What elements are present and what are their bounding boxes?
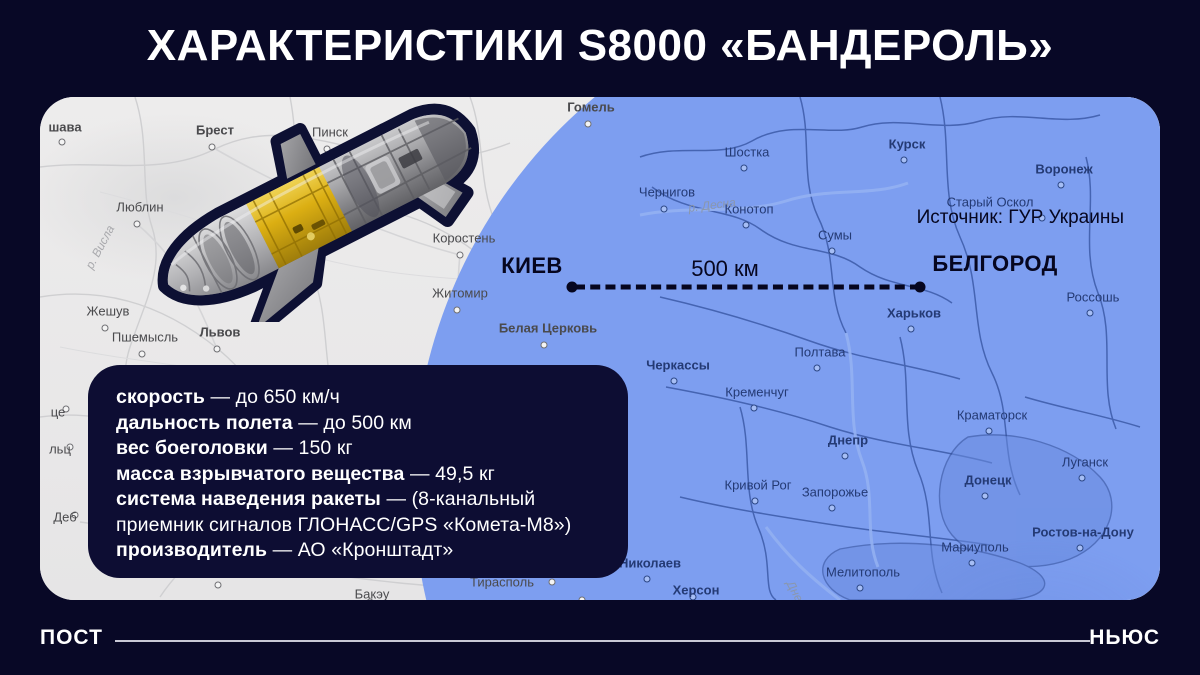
city-dot (549, 579, 556, 586)
spec-value: (8-канальный (412, 488, 536, 510)
footer-bar: ПОСТ НЬЮС (0, 600, 1200, 675)
city-dot (752, 498, 759, 505)
kiev-marker-dot (567, 282, 578, 293)
distance-dashed-line (575, 285, 920, 290)
city-dot (72, 512, 79, 519)
spec-line: дальность полета — до 500 км (116, 411, 628, 437)
city-dot (743, 222, 750, 229)
spec-value: до 650 км/ч (236, 386, 340, 408)
source-note: Источник: ГУР Украины (917, 207, 1124, 229)
city-dot (842, 453, 849, 460)
distance-label: 500 км (691, 256, 759, 282)
spec-line: масса взрывчатого вещества — 49,5 кг (116, 462, 628, 488)
spec-label: дальность полета (116, 412, 293, 434)
belgorod-marker-dot (915, 282, 926, 293)
spec-line: приемник сигналов ГЛОНАСС/GPS «Комета-М8… (116, 513, 628, 539)
footer-divider (115, 640, 1090, 642)
spec-label: производитель (116, 539, 267, 561)
city-dot (585, 121, 592, 128)
spec-line: производитель — АО «Кронштадт» (116, 538, 628, 564)
city-dot (541, 342, 548, 349)
city-dot (969, 560, 976, 567)
city-dot (102, 325, 109, 332)
city-dot (671, 378, 678, 385)
spec-label: масса взрывчатого вещества (116, 463, 404, 485)
city-dot (908, 326, 915, 333)
city-dot (857, 585, 864, 592)
page-title: ХАРАКТЕРИСТИКИ S8000 «БАНДЕРОЛЬ» (0, 22, 1200, 70)
spec-value: до 500 км (323, 412, 411, 434)
city-dot (814, 365, 821, 372)
belgorod-label: БЕЛГОРОД (932, 251, 1057, 277)
city-dot (986, 428, 993, 435)
city-dot (661, 206, 668, 213)
city-dot (1079, 475, 1086, 482)
spec-value: приемник сигналов ГЛОНАСС/GPS «Комета-М8… (116, 514, 571, 536)
spec-label: система наведения ракеты (116, 488, 381, 510)
city-dot (982, 493, 989, 500)
city-dot (829, 505, 836, 512)
city-dot (1077, 545, 1084, 552)
specs-panel: скорость — до 650 км/чдальность полета —… (88, 365, 628, 578)
spec-value: 150 кг (299, 437, 353, 459)
city-dot (214, 346, 221, 353)
spec-value: АО «Кронштадт» (298, 539, 454, 561)
city-dot (829, 248, 836, 255)
spec-line: скорость — до 650 км/ч (116, 385, 628, 411)
city-dot (751, 405, 758, 412)
s8000-missile-illustration (106, 97, 526, 322)
city-dot (139, 351, 146, 358)
spec-label: вес боеголовки (116, 437, 268, 459)
city-dot (67, 444, 74, 451)
spec-line: вес боеголовки — 150 кг (116, 436, 628, 462)
city-dot (215, 582, 222, 589)
city-dot (63, 406, 70, 413)
spec-label: скорость (116, 386, 205, 408)
city-dot (901, 157, 908, 164)
footer-brand-right: НЬЮС (1089, 626, 1160, 650)
city-dot (741, 165, 748, 172)
spec-value: 49,5 кг (435, 463, 495, 485)
city-dot (1087, 310, 1094, 317)
city-dot (644, 576, 651, 583)
footer-brand-left: ПОСТ (40, 626, 103, 650)
spec-line: система наведения ракеты — (8-канальный (116, 487, 628, 513)
city-dot (59, 139, 66, 146)
city-dot (1058, 182, 1065, 189)
specs-list: скорость — до 650 км/чдальность полета —… (116, 385, 628, 564)
